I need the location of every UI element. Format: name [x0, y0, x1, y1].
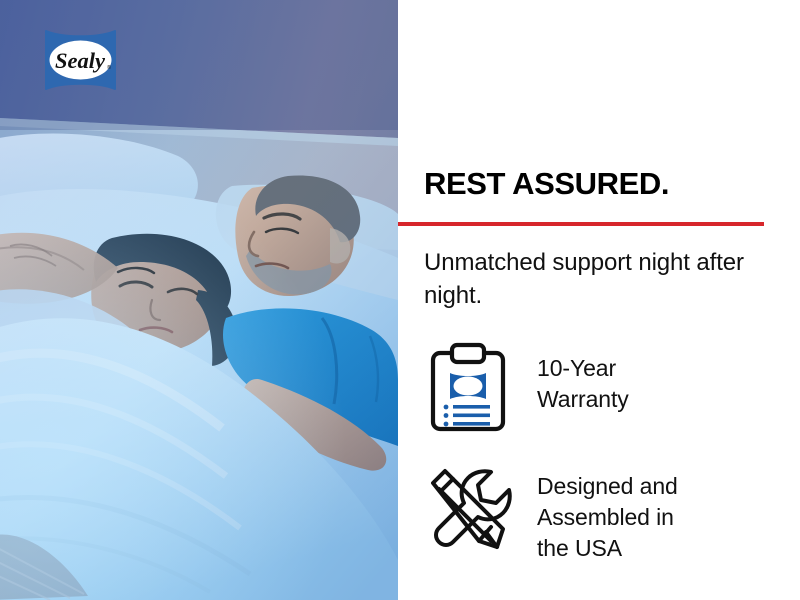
feature-item-made-in-usa: Designed and Assembled in the USA: [398, 458, 800, 564]
red-divider-rule: [398, 222, 764, 226]
sleeping-couple-photo: Sealy ®: [0, 0, 398, 600]
sealy-logo: Sealy ®: [43, 27, 118, 93]
page-title: REST ASSURED.: [424, 166, 669, 202]
feature-list: 10-Year Warranty: [398, 340, 800, 564]
registered-mark: ®: [107, 64, 111, 71]
content-panel: REST ASSURED. Unmatched support night af…: [398, 0, 800, 600]
subheadline: Unmatched support night after night.: [424, 246, 754, 312]
feature-label-warranty: 10-Year Warranty: [537, 340, 629, 415]
sealy-wordmark: Sealy: [55, 48, 106, 73]
feature-label-made-in-usa: Designed and Assembled in the USA: [537, 458, 678, 564]
sealy-advertisement: Sealy ® REST ASSURED. Unmatched support …: [0, 0, 800, 600]
feature-item-warranty: 10-Year Warranty: [398, 340, 800, 440]
pencil-wrench-icon: [420, 458, 516, 554]
clipboard-warranty-icon: [420, 340, 516, 436]
